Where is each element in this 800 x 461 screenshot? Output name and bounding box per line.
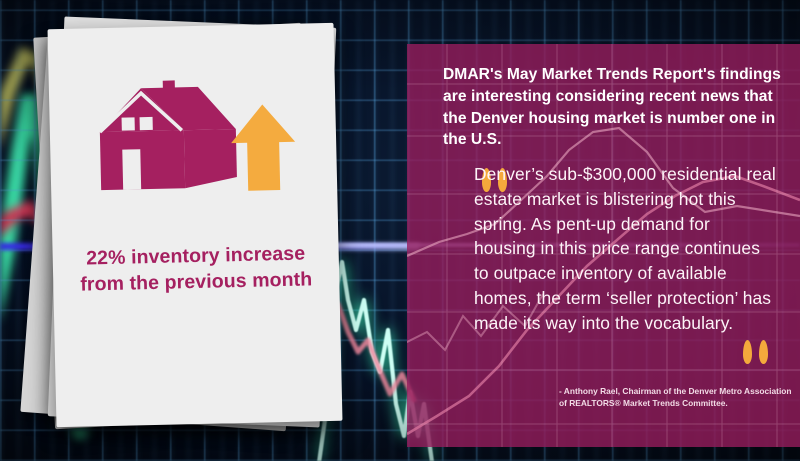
stat-text: 22% inventory increase from the previous…	[77, 241, 314, 298]
house-illustration	[84, 66, 302, 203]
attribution-text: - Anthony Rael, Chairman of the Denver M…	[559, 385, 794, 409]
up-arrow-icon	[230, 104, 296, 191]
stat-card: 22% inventory increase from the previous…	[48, 23, 343, 427]
quote-text: Denver’s sub-$300,000 residential real e…	[474, 162, 776, 336]
close-quote-icon	[743, 340, 752, 364]
infographic-canvas: 22% inventory increase from the previous…	[0, 0, 800, 461]
house-icon	[98, 79, 236, 190]
close-quote-icon	[759, 340, 768, 364]
quote-panel: DMAR's May Market Trends Report's findin…	[407, 44, 800, 447]
headline-text: DMAR's May Market Trends Report's findin…	[443, 64, 783, 151]
